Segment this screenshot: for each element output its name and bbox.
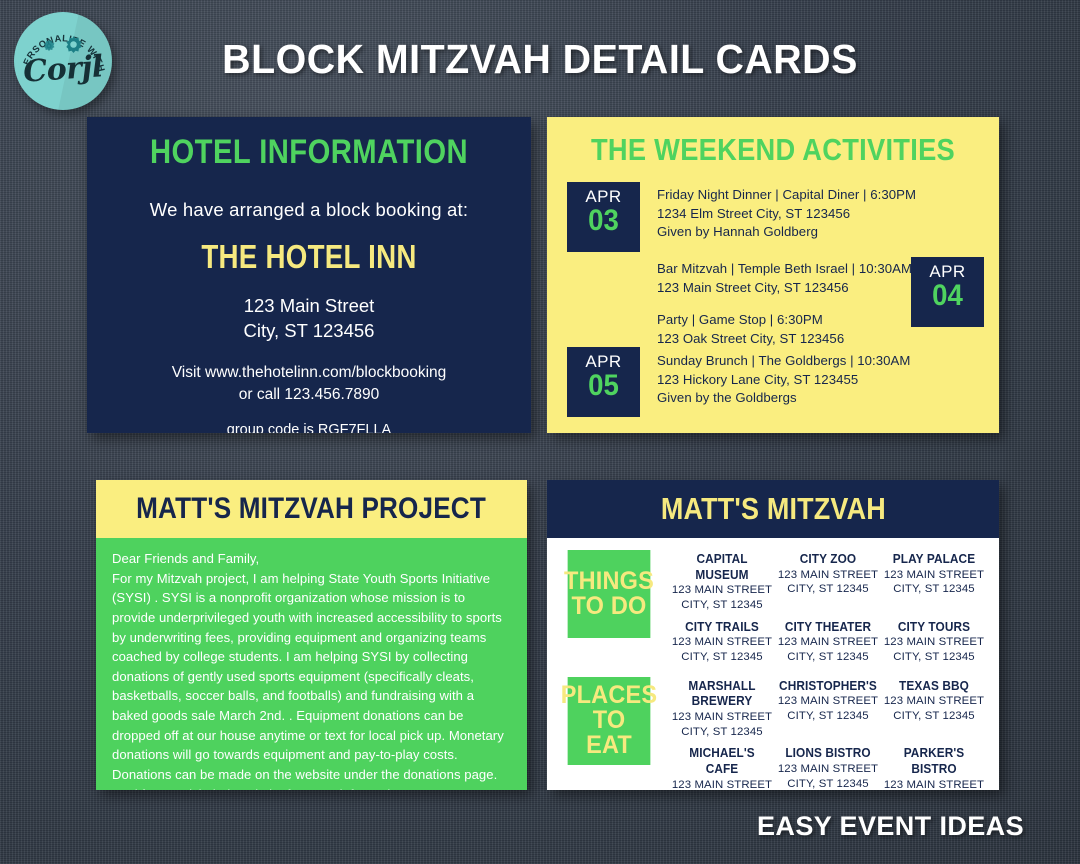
- card-mitzvah-guide[interactable]: MATT'S MITZVAH THINGS TO DO CAPITAL MUSE…: [547, 480, 999, 790]
- venue-citystate: CITY, ST 12345: [775, 777, 881, 790]
- date-chip-apr-03: APR 03: [567, 182, 640, 252]
- venue-street: 123 MAIN STREET: [881, 694, 987, 709]
- event-line-1: Friday Night Dinner | Capital Diner | 6:…: [657, 186, 916, 205]
- weekend-card-title: THE WEEKEND ACTIVITIES: [574, 132, 972, 168]
- venue-street: 123 MAIN STREET: [669, 778, 775, 790]
- list-item: TEXAS BBQ 123 MAIN STREET CITY, ST 12345: [881, 679, 987, 740]
- hotel-phone-line: or call 123.456.7890: [87, 384, 531, 406]
- project-card-title: MATT'S MITZVAH PROJECT: [137, 492, 487, 526]
- date-chip-apr-04: APR 04: [911, 257, 984, 327]
- venue-street: 123 MAIN STREET: [775, 762, 881, 777]
- event-item: Friday Night Dinner | Capital Diner | 6:…: [657, 186, 916, 242]
- section-places-to-eat: PLACES TO EAT MARSHALL BREWERY 123 MAIN …: [547, 665, 999, 790]
- venue-name: TEXAS BBQ: [884, 679, 984, 695]
- venue-name: CITY TOURS: [884, 620, 984, 636]
- footer-brand: EASY EVENT IDEAS: [757, 811, 1024, 842]
- event-line-1: Bar Mitzvah | Temple Beth Israel | 10:30…: [657, 260, 912, 279]
- things-to-do-grid: CAPITAL MUSEUM 123 MAIN STREET CITY, ST …: [669, 552, 987, 665]
- hotel-name: THE HOTEL INN: [123, 238, 496, 276]
- hotel-contact: Visit www.thehotelinn.com/blockbooking o…: [87, 362, 531, 405]
- venue-citystate: CITY, ST 12345: [881, 650, 987, 665]
- venue-street: 123 MAIN STREET: [775, 694, 881, 709]
- venue-name: CAPITAL MUSEUM: [672, 552, 772, 583]
- project-header: MATT'S MITZVAH PROJECT: [96, 480, 527, 538]
- date-chip-apr-05: APR 05: [567, 347, 640, 417]
- list-item: MARSHALL BREWERY 123 MAIN STREET CITY, S…: [669, 679, 775, 740]
- section-things-to-do: THINGS TO DO CAPITAL MUSEUM 123 MAIN STR…: [547, 538, 999, 665]
- list-item: LIONS BISTRO 123 MAIN STREET CITY, ST 12…: [775, 746, 881, 790]
- project-body-text: For my Mitzvah project, I am helping Sta…: [112, 569, 511, 790]
- hotel-website-line: Visit www.thehotelinn.com/blockbooking: [87, 362, 531, 384]
- venue-street: 123 MAIN STREET: [775, 568, 881, 583]
- list-item: CITY THEATER 123 MAIN STREET CITY, ST 12…: [775, 620, 881, 665]
- card-mitzvah-project[interactable]: MATT'S MITZVAH PROJECT Dear Friends and …: [96, 480, 527, 790]
- list-item: MICHAEL'S CAFE 123 MAIN STREET CITY, ST …: [669, 746, 775, 790]
- event-line-2: 123 Hickory Lane City, ST 123455: [657, 371, 910, 390]
- venue-street: 123 MAIN STREET: [669, 635, 775, 650]
- list-item: CHRISTOPHER'S 123 MAIN STREET CITY, ST 1…: [775, 679, 881, 740]
- venue-citystate: CITY, ST 12345: [775, 709, 881, 724]
- venue-citystate: CITY, ST 12345: [775, 582, 881, 597]
- list-item: CITY TOURS 123 MAIN STREET CITY, ST 1234…: [881, 620, 987, 665]
- venue-citystate: CITY, ST 12345: [669, 725, 775, 740]
- badge-line-1: PLACES: [561, 683, 657, 708]
- card-hotel-information[interactable]: HOTEL INFORMATION We have arranged a blo…: [87, 117, 531, 433]
- venue-name: CITY TRAILS: [672, 620, 772, 636]
- venue-citystate: CITY, ST 12345: [775, 650, 881, 665]
- venue-name: LIONS BISTRO: [778, 746, 878, 762]
- date-chip-day: 05: [570, 371, 637, 401]
- hotel-address-line2: City, ST 123456: [87, 319, 531, 344]
- event-item: Bar Mitzvah | Temple Beth Israel | 10:30…: [657, 260, 912, 297]
- hotel-address: 123 Main Street City, ST 123456: [87, 294, 531, 344]
- guide-header: MATT'S MITZVAH: [547, 480, 999, 538]
- list-item: PARKER'S BISTRO 123 MAIN STREET CITY, ST…: [881, 746, 987, 790]
- hotel-address-line1: 123 Main Street: [87, 294, 531, 319]
- badge-line-2: TO EAT: [568, 708, 651, 758]
- project-letter: Dear Friends and Family, For my Mitzvah …: [96, 538, 527, 790]
- venue-citystate: CITY, ST 12345: [881, 582, 987, 597]
- venue-citystate: CITY, ST 12345: [881, 709, 987, 724]
- badge-line-2: TO DO: [572, 594, 647, 619]
- venue-street: 123 MAIN STREET: [881, 778, 987, 790]
- page-title: BLOCK MITZVAH DETAIL CARDS: [22, 36, 1059, 83]
- hotel-lead-text: We have arranged a block booking at:: [87, 199, 531, 221]
- date-chip-day: 04: [914, 281, 981, 311]
- venue-name: PARKER'S BISTRO: [884, 746, 984, 777]
- guide-card-title: MATT'S MITZVAH: [660, 491, 885, 527]
- card-weekend-activities[interactable]: THE WEEKEND ACTIVITIES APR 03 Friday Nig…: [547, 117, 999, 433]
- venue-name: MARSHALL BREWERY: [672, 679, 772, 710]
- hotel-group-code: group code is RGF7FLLA: [87, 422, 531, 433]
- event-line-1: Party | Game Stop | 6:30PM: [657, 311, 844, 330]
- list-item: PLAY PALACE 123 MAIN STREET CITY, ST 123…: [881, 552, 987, 613]
- venue-citystate: CITY, ST 12345: [669, 598, 775, 613]
- venue-name: MICHAEL'S CAFE: [672, 746, 772, 777]
- venue-name: PLAY PALACE: [884, 552, 984, 568]
- places-to-eat-grid: MARSHALL BREWERY 123 MAIN STREET CITY, S…: [669, 679, 987, 790]
- venue-street: 123 MAIN STREET: [775, 635, 881, 650]
- things-to-do-badge: THINGS TO DO: [568, 550, 651, 638]
- venue-street: 123 MAIN STREET: [881, 568, 987, 583]
- venue-street: 123 MAIN STREET: [669, 710, 775, 725]
- venue-name: CITY ZOO: [778, 552, 878, 568]
- venue-citystate: CITY, ST 12345: [669, 650, 775, 665]
- venue-name: CITY THEATER: [778, 620, 878, 636]
- event-line-3: Given by Hannah Goldberg: [657, 223, 916, 242]
- list-item: CITY ZOO 123 MAIN STREET CITY, ST 12345: [775, 552, 881, 613]
- date-chip-day: 03: [570, 206, 637, 236]
- project-salutation: Dear Friends and Family,: [112, 549, 511, 569]
- list-item: CAPITAL MUSEUM 123 MAIN STREET CITY, ST …: [669, 552, 775, 613]
- hotel-card-title: HOTEL INFORMATION: [118, 133, 500, 172]
- list-item: CITY TRAILS 123 MAIN STREET CITY, ST 123…: [669, 620, 775, 665]
- event-line-2: 123 Oak Street City, ST 123456: [657, 330, 844, 349]
- event-line-2: 123 Main Street City, ST 123456: [657, 279, 912, 298]
- places-to-eat-badge: PLACES TO EAT: [568, 677, 651, 765]
- event-item: Sunday Brunch | The Goldbergs | 10:30AM …: [657, 352, 910, 408]
- weekend-schedule: APR 03 Friday Night Dinner | Capital Din…: [547, 178, 999, 418]
- venue-street: 123 MAIN STREET: [881, 635, 987, 650]
- badge-line-1: THINGS: [564, 569, 654, 594]
- event-line-1: Sunday Brunch | The Goldbergs | 10:30AM: [657, 352, 910, 371]
- event-line-3: Given by the Goldbergs: [657, 389, 910, 408]
- event-item: Party | Game Stop | 6:30PM 123 Oak Stree…: [657, 311, 844, 348]
- event-line-2: 1234 Elm Street City, ST 123456: [657, 205, 916, 224]
- venue-name: CHRISTOPHER'S: [778, 679, 878, 695]
- venue-street: 123 MAIN STREET: [669, 583, 775, 598]
